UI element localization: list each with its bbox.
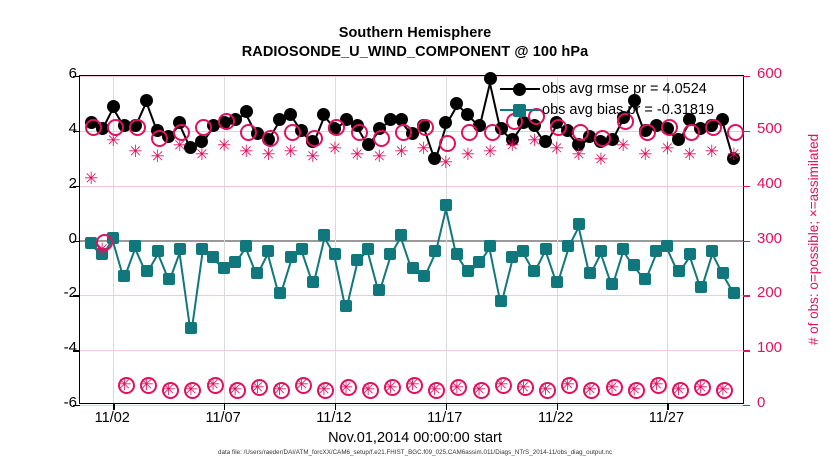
x-tick: [667, 403, 668, 410]
y-tick-label-right: 200: [757, 284, 803, 301]
obs-assimilated-point: ✳: [648, 377, 664, 395]
obs-possible-point: [450, 379, 467, 396]
obs-assimilated-point: ✳: [582, 382, 598, 400]
obs-possible-point: [118, 377, 135, 394]
obs-assimilated-point: ✳: [194, 147, 210, 165]
y-tick-label-right: 0: [757, 394, 803, 411]
x-tick-label: 11/02: [95, 410, 130, 426]
y-tick-right: [743, 241, 750, 242]
line-segment: [688, 254, 701, 288]
obs-assimilated-point: ✳: [338, 380, 354, 398]
line-segment: [411, 268, 423, 278]
obs-assimilated-point: ✳: [615, 138, 631, 156]
y-tick-label-left: 6: [37, 65, 77, 82]
obs-assimilated-point: ✳: [471, 382, 487, 400]
line-segment: [544, 249, 557, 283]
obs-possible-point: [539, 382, 556, 399]
obs-possible-point: [594, 130, 611, 147]
obs-assimilated-point: ✳: [116, 377, 132, 395]
x-tick: [113, 403, 114, 410]
obs-assimilated-point: ✳: [460, 147, 476, 165]
line-segment: [721, 120, 734, 159]
line-segment: [688, 120, 700, 130]
obs-assimilated-point: ✳: [493, 377, 509, 395]
y-tick-label-left: -2: [37, 284, 77, 301]
line-segment: [355, 125, 368, 145]
line-segment: [466, 114, 478, 126]
obs-assimilated-point: ✳: [626, 382, 642, 400]
line-segment: [701, 125, 713, 130]
y-tick-right: [743, 76, 750, 77]
line-segment: [90, 243, 102, 255]
x-tick: [335, 403, 336, 410]
obs-assimilated-point: ✳: [593, 152, 609, 170]
obs-possible-point: [384, 379, 401, 396]
obs-assimilated-point: ✳: [515, 380, 531, 398]
line-segment: [266, 251, 279, 293]
obs-assimilated-point: ✳: [127, 144, 143, 162]
obs-assimilated-point: ✳: [161, 382, 177, 400]
obs-assimilated-point: ✳: [349, 147, 365, 165]
y-tick-label-left: 2: [37, 175, 77, 192]
obs-assimilated-point: ✳: [305, 149, 321, 167]
line-segment: [424, 251, 437, 276]
obs-possible-point: [295, 377, 312, 394]
data-file-footer: data file: /Users/raeder/DAI/ATM_forcXX/…: [0, 449, 830, 456]
line-segment: [322, 114, 335, 129]
legend-label-bias: obs avg bias pr = -0.31819: [542, 102, 714, 118]
legend: obs avg rmse pr = 4.0524 obs avg bias pr…: [498, 78, 740, 120]
y-tick-right: [743, 350, 750, 351]
obs-possible-point: [473, 382, 490, 399]
plot-area: ✳✳✳✳✳✳✳✳✳✳✳✳✳✳✳✳✳✳✳✳✳✳✳✳✳✳✳✳✳✳✳✳✳✳✳✳✳✳✳✳…: [79, 75, 744, 404]
line-segment: [400, 120, 413, 135]
line-segment: [488, 246, 501, 301]
y-tick-label-right: 100: [757, 339, 803, 356]
line-segment: [601, 139, 613, 144]
x-tick: [557, 403, 558, 410]
y-tick-label-right: 500: [757, 120, 803, 137]
obs-possible-point: [517, 379, 534, 396]
line-segment: [557, 246, 570, 282]
x-tick: [446, 403, 447, 410]
obs-assimilated-point: ✳: [227, 382, 243, 400]
y-tick-label-left: -6: [37, 394, 77, 411]
gridline-v: [224, 76, 225, 403]
obs-possible-point: [628, 382, 645, 399]
line-segment: [322, 235, 335, 255]
obs-assimilated-point: ✳: [183, 382, 199, 400]
line-segment: [621, 249, 634, 267]
obs-assimilated-point: ✳: [360, 382, 376, 400]
line-segment: [721, 273, 734, 293]
line-segment: [612, 117, 625, 140]
y-tick-label-left: 4: [37, 120, 77, 137]
line-segment: [710, 251, 723, 274]
line-segment: [157, 131, 169, 138]
line-segment: [379, 254, 392, 290]
y-tick-right: [743, 295, 750, 296]
y-tick-right: [743, 405, 750, 406]
gridline-h: [80, 295, 743, 296]
title-line-1: Southern Hemisphere: [0, 24, 830, 43]
line-segment: [701, 251, 714, 287]
line-segment: [156, 251, 169, 279]
obs-assimilated-point: ✳: [671, 382, 687, 400]
obs-possible-point: [340, 379, 357, 396]
plot-page: Southern Hemisphere RADIOSONDE_U_WIND_CO…: [0, 0, 830, 470]
line-segment: [202, 125, 215, 143]
line-segment: [313, 114, 326, 142]
line-segment: [313, 235, 326, 282]
x-tick-label: 11/22: [538, 410, 573, 426]
x-tick-label: 11/12: [316, 410, 351, 426]
obs-assimilated-point: ✳: [482, 144, 498, 162]
obs-possible-point: [207, 377, 224, 394]
obs-assimilated-point: ✳: [571, 147, 587, 165]
obs-possible-point: [162, 382, 179, 399]
obs-possible-point: [716, 382, 733, 399]
line-segment: [289, 114, 302, 132]
y-tick-label-left: 0: [37, 230, 77, 247]
obs-possible-point: [583, 382, 600, 399]
y-tick-right: [743, 131, 750, 132]
legend-item: obs avg bias pr = -0.31819: [498, 99, 740, 120]
obs-assimilated-point: ✳: [371, 149, 387, 167]
obs-assimilated-point: ✳: [405, 377, 421, 395]
obs-assimilated-point: ✳: [205, 377, 221, 395]
line-segment: [599, 251, 612, 285]
obs-assimilated-point: ✳: [504, 138, 520, 156]
line-segment: [90, 123, 102, 130]
legend-item: obs avg rmse pr = 4.0524: [498, 78, 740, 99]
line-segment: [455, 103, 467, 115]
line-segment: [346, 260, 359, 307]
obs-possible-point: [406, 377, 423, 394]
obs-assimilated-point: ✳: [283, 144, 299, 162]
line-segment: [633, 265, 646, 280]
line-segment: [256, 134, 268, 141]
line-segment: [300, 131, 312, 143]
obs-assimilated-point: ✳: [427, 382, 443, 400]
legend-label-rmse: obs avg rmse pr = 4.0524: [542, 81, 707, 97]
line-segment: [455, 254, 468, 272]
x-tick-label: 11/07: [205, 410, 240, 426]
obs-assimilated-point: ✳: [139, 377, 155, 395]
obs-possible-point: [727, 124, 744, 141]
y-tick-label-right: 300: [757, 230, 803, 247]
obs-possible-point: [672, 382, 689, 399]
obs-possible-point: [561, 377, 578, 394]
line-segment: [134, 246, 147, 271]
line-segment: [224, 262, 236, 269]
line-segment: [191, 249, 204, 329]
obs-possible-point: [428, 382, 445, 399]
obs-assimilated-point: ✳: [693, 380, 709, 398]
obs-possible-point: [140, 377, 157, 394]
legend-marker-rmse: [498, 79, 542, 99]
obs-assimilated-point: ✳: [449, 380, 465, 398]
chart-title: Southern Hemisphere RADIOSONDE_U_WIND_CO…: [0, 24, 830, 62]
line-segment: [244, 246, 257, 274]
obs-assimilated-point: ✳: [294, 377, 310, 395]
line-segment: [366, 249, 379, 291]
obs-assimilated-point: ✳: [382, 380, 398, 398]
line-segment: [124, 125, 135, 127]
title-line-2: RADIOSONDE_U_WIND_COMPONENT @ 100 hPa: [0, 43, 830, 62]
obs-possible-point: [495, 377, 512, 394]
line-segment: [178, 249, 191, 329]
line-segment: [533, 125, 546, 143]
obs-possible-point: [273, 382, 290, 399]
line-segment: [566, 131, 579, 146]
obs-possible-point: [184, 382, 201, 399]
x-tick: [224, 403, 225, 410]
obs-possible-point: [606, 379, 623, 396]
line-segment: [300, 249, 313, 283]
obs-possible-point: [317, 382, 334, 399]
obs-possible-point: [650, 377, 667, 394]
legend-marker-bias: [498, 100, 542, 120]
y-tick-label-right: 400: [757, 175, 803, 192]
line-segment: [145, 101, 158, 132]
obs-possible-point: [694, 379, 711, 396]
obs-assimilated-point: ✳: [715, 382, 731, 400]
line-segment: [612, 249, 625, 285]
obs-assimilated-point: ✳: [538, 382, 554, 400]
line-segment: [522, 251, 535, 271]
y-axis-right-title: # of obs: o=possible; ×=assimilated: [806, 75, 821, 404]
obs-possible-point: [229, 382, 246, 399]
obs-assimilated-point: ✳: [393, 144, 409, 162]
line-segment: [645, 251, 658, 279]
x-axis-title: Nov.01,2014 00:00:00 start: [0, 430, 830, 446]
line-segment: [577, 224, 590, 274]
gridline-h: [80, 76, 743, 77]
line-segment: [191, 142, 203, 149]
gridline-h: [80, 186, 743, 187]
obs-assimilated-point: ✳: [604, 380, 620, 398]
y-tick-label-left: -4: [37, 339, 77, 356]
obs-assimilated-point: ✳: [637, 147, 653, 165]
obs-assimilated-point: ✳: [260, 147, 276, 165]
obs-assimilated-point: ✳: [560, 377, 576, 395]
line-segment: [280, 257, 293, 293]
obs-possible-point: [251, 379, 268, 396]
line-segment: [224, 120, 236, 125]
rmse-point: [428, 152, 441, 165]
obs-assimilated-point: ✳: [238, 144, 254, 162]
line-segment: [468, 262, 480, 272]
line-segment: [589, 136, 601, 143]
x-tick-label: 11/17: [427, 410, 462, 426]
gridline-v: [335, 76, 336, 403]
obs-possible-point: [461, 124, 478, 141]
obs-assimilated-point: ✳: [316, 382, 332, 400]
gridline-v: [667, 76, 668, 403]
line-segment: [213, 123, 225, 128]
obs-assimilated-point: ✳: [150, 149, 166, 167]
obs-assimilated-point: ✳: [272, 382, 288, 400]
y-tick-right: [743, 186, 750, 187]
obs-possible-point: [362, 382, 379, 399]
line-segment: [212, 257, 224, 269]
zero-reference-line: [80, 240, 743, 242]
gridline-h: [80, 405, 743, 406]
obs-assimilated-point: ✳: [704, 144, 720, 162]
line-segment: [178, 123, 191, 148]
obs-assimilated-point: ✳: [726, 147, 742, 165]
y-tick-label-right: 600: [757, 65, 803, 82]
obs-assimilated-point: ✳: [682, 147, 698, 165]
x-tick-label: 11/27: [649, 410, 684, 426]
obs-assimilated-point: ✳: [249, 380, 265, 398]
gridline-h: [80, 350, 743, 351]
